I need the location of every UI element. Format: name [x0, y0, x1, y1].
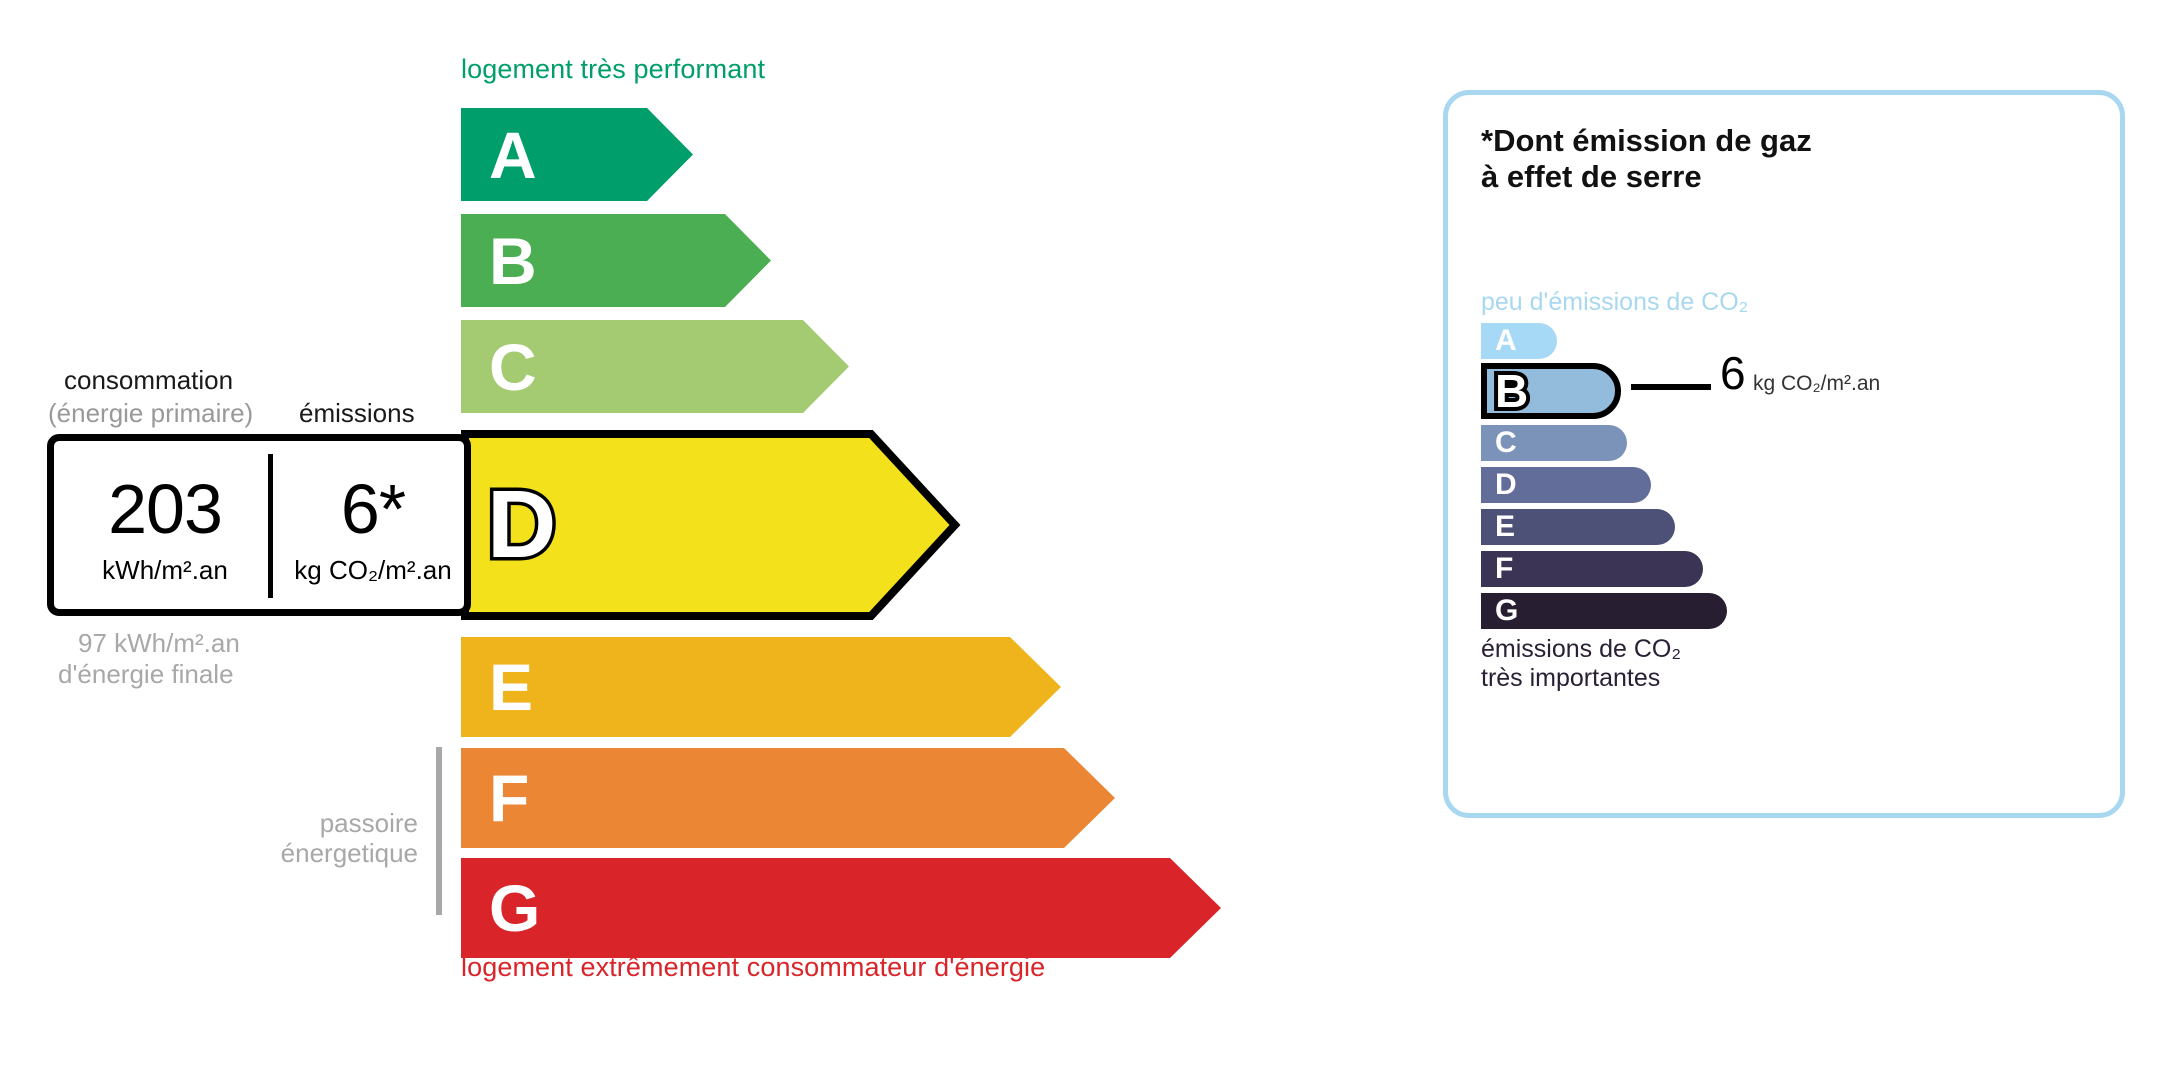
arrow-shape-G — [461, 858, 1221, 958]
emission-unit: kg CO₂/m².an — [276, 555, 470, 586]
label-energie-primaire: (énergie primaire) — [48, 398, 253, 429]
consumption-unit: kWh/m².an — [54, 555, 276, 586]
co2-callout-unit: kg CO₂/m².an — [1753, 372, 1880, 396]
co2-band-B-selected: B — [1481, 363, 1621, 419]
energy-bottom-caption: logement extrêmement consommateur d'éner… — [461, 952, 1045, 983]
passoire-energetique-marker — [436, 747, 442, 915]
passoire-line-2: énergetique — [0, 838, 418, 868]
co2-band-letter-D: D — [1495, 470, 1517, 500]
co2-band-F: F — [1481, 551, 1703, 587]
arrow-shape-E — [461, 637, 1061, 737]
energy-band-G: G — [461, 858, 1221, 958]
co2-band-letter-B: B — [1495, 368, 1528, 414]
co2-bottom-caption: émissions de CO₂ très importantes — [1481, 635, 1681, 693]
consumption-value: 203 — [54, 469, 276, 549]
energy-band-B: B — [461, 214, 771, 307]
energy-band-letter-G: G — [489, 875, 540, 941]
energy-band-D-selected: D — [461, 430, 961, 620]
final-energy-value: 97 kWh/m².an — [78, 628, 240, 659]
energy-band-letter-B: B — [489, 228, 537, 294]
consumption-value-cell: 203 kWh/m².an — [54, 441, 276, 609]
energy-band-letter-E: E — [489, 654, 533, 720]
co2-band-letter-A: A — [1495, 326, 1517, 356]
emission-value-cell: 6* kg CO₂/m².an — [276, 441, 470, 609]
co2-band-letter-F: F — [1495, 554, 1513, 584]
energy-band-letter-C: C — [489, 334, 537, 400]
co2-band-D: D — [1481, 467, 1651, 503]
co2-emissions-panel: *Dont émission de gaz à effet de serre p… — [1443, 90, 2125, 818]
label-consommation: consommation — [64, 365, 233, 396]
co2-bar-F — [1481, 551, 1703, 587]
energy-band-E: E — [461, 637, 1061, 737]
energy-band-letter-A: A — [489, 122, 537, 188]
co2-panel-title: *Dont émission de gaz à effet de serre — [1481, 123, 1812, 195]
co2-band-E: E — [1481, 509, 1675, 545]
value-box: 203 kWh/m².an 6* kg CO₂/m².an — [47, 434, 471, 616]
co2-band-letter-C: C — [1495, 428, 1517, 458]
co2-band-letter-E: E — [1495, 512, 1515, 542]
label-emissions: émissions — [299, 398, 415, 429]
final-energy-label: d'énergie finale — [58, 659, 234, 690]
energy-top-caption: logement très performant — [461, 54, 765, 85]
co2-band-A: A — [1481, 323, 1557, 359]
arrow-shape-F — [461, 748, 1115, 848]
energy-band-C: C — [461, 320, 849, 413]
energy-band-letter-D: D — [487, 477, 556, 573]
co2-callout-leader-line — [1631, 384, 1711, 390]
passoire-line-1: passoire — [0, 808, 418, 838]
co2-band-C: C — [1481, 425, 1627, 461]
co2-callout-value: 6 — [1720, 350, 1746, 396]
passoire-energetique-label: passoire énergetique — [0, 808, 418, 868]
co2-top-caption: peu d'émissions de CO₂ — [1481, 288, 1748, 317]
co2-band-letter-G: G — [1495, 596, 1518, 626]
energy-band-letter-F: F — [489, 765, 529, 831]
energy-band-A: A — [461, 108, 693, 201]
emission-value: 6* — [276, 469, 470, 549]
value-box-divider — [268, 454, 273, 598]
energy-performance-diagram: logement très performant A B C — [0, 0, 1380, 1079]
co2-band-G: G — [1481, 593, 1727, 629]
energy-band-F: F — [461, 748, 1115, 848]
co2-bar-A — [1481, 323, 1557, 359]
